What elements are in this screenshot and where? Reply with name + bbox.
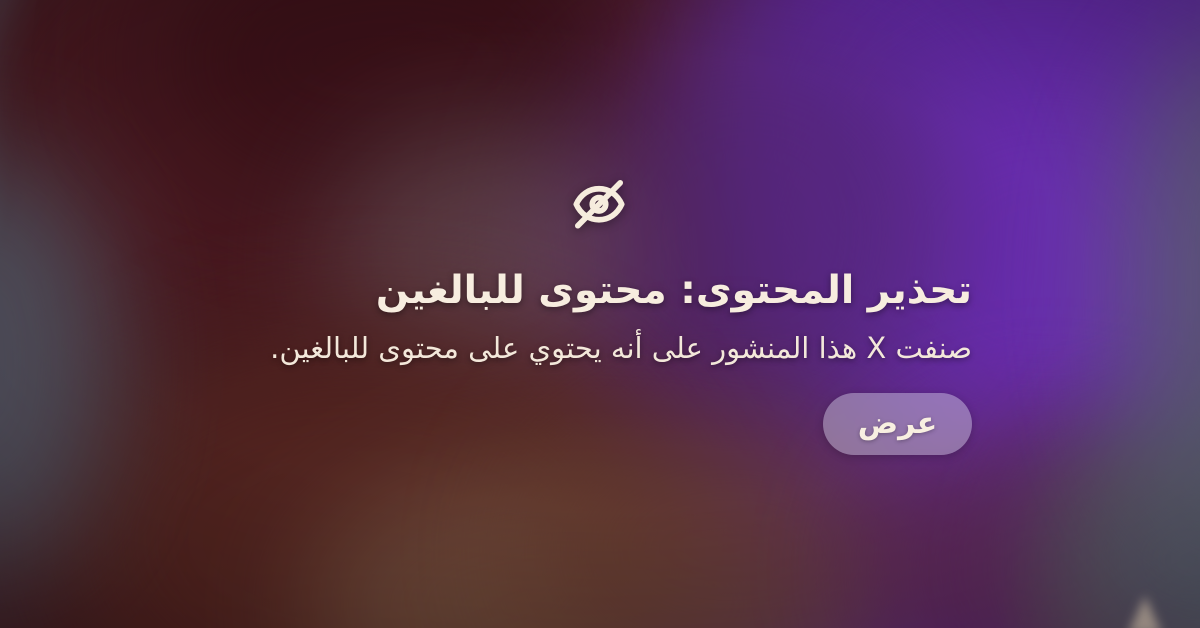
warning-description: صنفت X هذا المنشور على أنه يحتوي على محت… — [0, 329, 972, 367]
page-title: تحذير المحتوى: محتوى للبالغين — [0, 267, 972, 315]
view-button[interactable]: عرض — [823, 393, 972, 455]
eye-off-icon — [568, 173, 630, 235]
content-warning-overlay: تحذير المحتوى: محتوى للبالغين صنفت X هذا… — [0, 0, 1200, 628]
warning-content: تحذير المحتوى: محتوى للبالغين صنفت X هذا… — [0, 0, 1200, 628]
